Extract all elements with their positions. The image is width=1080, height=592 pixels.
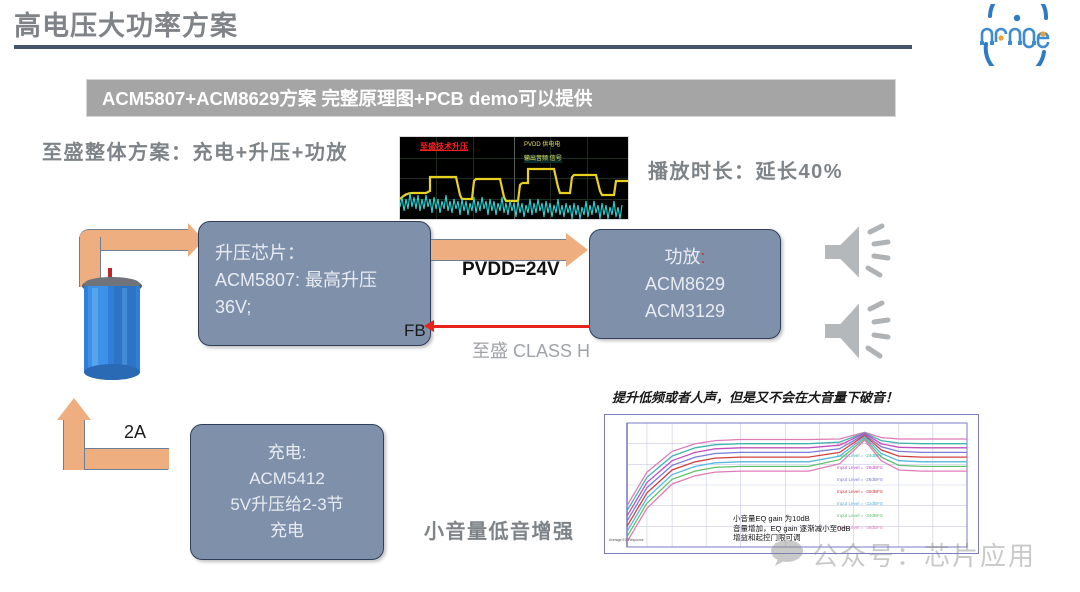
charge-arrow-head xyxy=(57,398,91,420)
svg-text:Input Level = -26dBFS: Input Level = -26dBFS xyxy=(837,465,883,470)
page-title: 高电压大功率方案 xyxy=(14,4,238,43)
amp-part-2: ACM3129 xyxy=(645,298,725,325)
title-divider xyxy=(14,45,912,49)
speech-bubble-icon xyxy=(770,538,804,571)
class-h-line2: CLASS H xyxy=(513,341,590,361)
amp-part-1: ACM8629 xyxy=(645,271,725,298)
eq-chart-caption: 提升低频或者人声，但是又不会在大音量下破音！ xyxy=(612,387,898,406)
feedback-arrow-head xyxy=(424,320,434,332)
class-h-label: 至盛 CLASS H xyxy=(472,339,590,364)
eq-note-line-2: 音量增加，EQ gain 逐渐减小至0dB xyxy=(733,524,851,534)
watermark: 公众号：芯片应用 xyxy=(770,536,1036,573)
amp-title: 功放: xyxy=(664,244,705,271)
oscilloscope-screenshot: 至盛技术升压 PVDD 供电电 输出音频 信号 xyxy=(399,136,629,220)
fb-label: FB xyxy=(404,321,426,341)
amplifier-block: 功放: ACM8629 ACM3129 xyxy=(589,229,781,339)
battery-icon xyxy=(78,268,148,386)
pvdd-label: PVDD=24V xyxy=(462,259,560,281)
svg-text:Input Level = -24dBFS: Input Level = -24dBFS xyxy=(837,453,883,458)
current-label: 2A xyxy=(124,422,146,443)
scope-audio-annotation: 输出音频 信号 xyxy=(524,155,562,163)
speaker-icon-top xyxy=(818,218,910,293)
scope-red-annotation: 至盛技术升压 xyxy=(420,141,468,152)
svg-text:Input Level = -32dBFS: Input Level = -32dBFS xyxy=(837,501,883,506)
charge-part: ACM5412 xyxy=(249,466,325,492)
playtime-label: 播放时长：延长40% xyxy=(648,155,843,184)
charge-desc-2: 充电 xyxy=(270,518,304,544)
boost-voltage: 36V; xyxy=(215,294,430,321)
speaker-icon-bottom xyxy=(818,293,910,373)
bass-boost-label: 小音量低音增强 xyxy=(424,515,575,544)
watermark-text: 公众号：芯片应用 xyxy=(812,536,1036,573)
acme-logo xyxy=(960,4,1072,66)
svg-text:Input Level = -30dBFS: Input Level = -30dBFS xyxy=(837,489,883,494)
boost-title: 升压芯片： xyxy=(215,240,430,267)
scope-pvdd-annotation: PVDD 供电电 xyxy=(524,141,560,149)
charge-desc-1: 5V升压给2-3节 xyxy=(230,492,343,518)
amp-title-text: 功放 xyxy=(664,247,700,267)
charge-arrow-shaft xyxy=(63,420,85,470)
charge-title: 充电: xyxy=(268,440,307,466)
feedback-arrow-line xyxy=(432,325,590,328)
amp-title-colon: : xyxy=(700,247,705,267)
boost-chip-block: 升压芯片： ACM5807: 最高升压 36V; xyxy=(198,221,431,346)
subtitle-banner: ACM5807+ACM8629方案 完整原理图+PCB demo可以提供 xyxy=(86,79,896,117)
eq-note-line-1: 小音量EQ gain 为10dB xyxy=(733,514,851,524)
svg-text:Input Level = -28dBFS: Input Level = -28dBFS xyxy=(837,477,883,482)
svg-text:Input Level = -22dBFS: Input Level = -22dBFS xyxy=(837,441,883,446)
pvdd-arrow-head xyxy=(566,233,588,267)
subtitle-banner-text: ACM5807+ACM8629方案 完整原理图+PCB demo可以提供 xyxy=(102,85,592,111)
overall-solution-label: 至盛整体方案：充电+升压+功放 xyxy=(42,136,348,165)
class-h-line1: 至盛 xyxy=(472,341,508,361)
charger-block: 充电: ACM5412 5V升压给2-3节 充电 xyxy=(190,424,384,560)
boost-part: ACM5807: 最高升压 xyxy=(215,267,430,294)
svg-text:Average EQ Response: Average EQ Response xyxy=(609,538,644,542)
pvdd-arrow-shaft xyxy=(431,239,570,261)
